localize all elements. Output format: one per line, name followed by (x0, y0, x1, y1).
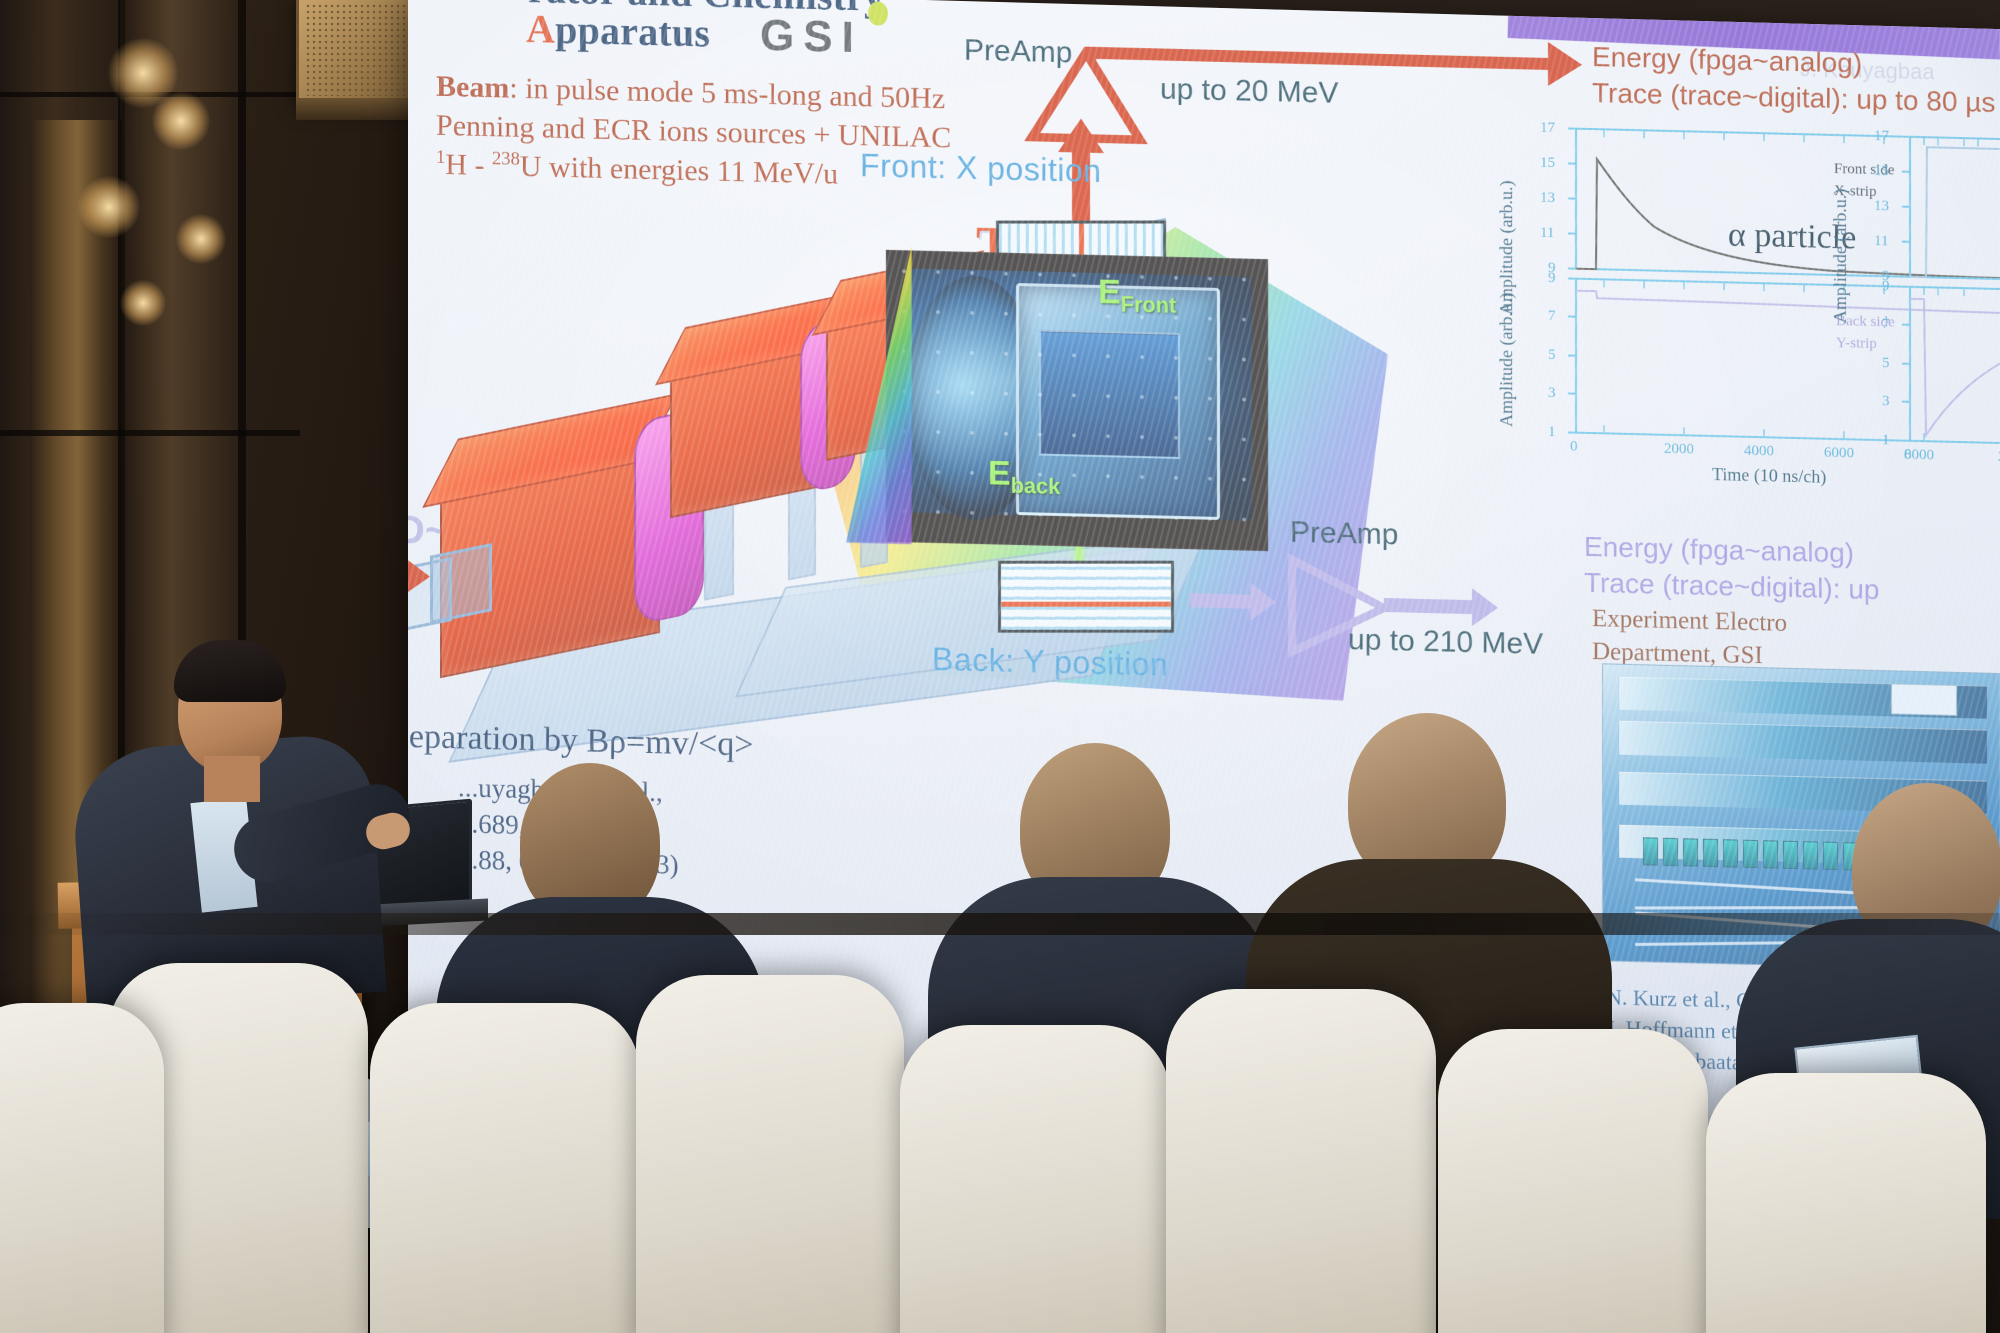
ref-left-2: ...689, 40 (2012) (458, 805, 678, 847)
back-y-position-label: Back: Y position (932, 641, 1168, 684)
electronics-caption-1: Experiment Electro (1592, 603, 1787, 640)
e-front-label: EFront (1098, 273, 1176, 319)
chain-bottom-output: Energy (fpga~analog) Trace (trace~digita… (1584, 529, 1879, 608)
beam-arrow-head (408, 550, 430, 603)
electronics-caption: Experiment Electro Department, GSI (1592, 603, 1787, 673)
arrow-back-shaft (1190, 593, 1256, 609)
electronics-rack-photo (1602, 663, 2000, 971)
slide-title-line2: Apparatus (526, 5, 710, 56)
ceiling-lamp (152, 92, 210, 150)
beam-label: Beam (436, 70, 509, 105)
wall-seam-h (0, 430, 300, 436)
ceiling-lamp (120, 280, 166, 326)
wall-speaker (296, 0, 420, 105)
screenshot-root: rator and Chemistry Apparatus GSI J. Khu… (0, 0, 2000, 1333)
ceiling-lamp (78, 176, 140, 238)
arrow-top-head (1548, 42, 1582, 87)
arrow-top-shaft (1086, 47, 1556, 70)
refs-right-block: N. Kurz et al., GSI Scientific Report 25… (1606, 981, 1993, 1084)
ref-left-1: ...uyagbaatar et al., (458, 769, 678, 811)
plot-fission-svg (1838, 127, 2000, 470)
podium-logo (62, 1168, 140, 1220)
detector-chamber-photo (886, 250, 1268, 551)
gsi-logo: GSI (760, 11, 863, 64)
arrow-back-head (1250, 583, 1276, 622)
e-back-label: Eback (988, 454, 1060, 500)
arrow-bottom-shaft (1384, 598, 1480, 614)
projection-screen: rator and Chemistry Apparatus GSI J. Khu… (408, 0, 2000, 1141)
arrow-bottom-head (1472, 588, 1498, 627)
plot-alpha-xlabel: Time (10 ns/ch) (1712, 464, 1826, 488)
preamp-top-label: PreAmp (964, 34, 1072, 71)
ref-left-3: ...88, 042703 (2013) (458, 842, 678, 884)
ceiling-lamp (176, 214, 226, 264)
arrow-front-head (1058, 118, 1104, 153)
front-x-position-label: Front: X position (860, 147, 1102, 190)
preamp-bottom-label: PreAmp (1290, 516, 1398, 553)
plot-fission: Amplitude (arb.u.) (1838, 127, 2000, 470)
chain-bottom-output-2: Trace (trace~digital): up (1584, 565, 1879, 608)
plot-fission-ylabel: Amplitude (arb.u.) (1830, 188, 1851, 323)
range-bottom-label: up to 210 MeV (1348, 623, 1543, 662)
chain-top-output: Energy (fpga~analog) Trace (trace~digita… (1592, 39, 1995, 121)
range-top-label: up to 20 MeV (1160, 72, 1338, 110)
water-bottle (320, 1078, 376, 1228)
gsi-logo-dot (868, 1, 888, 25)
back-strip-detector (998, 561, 1174, 633)
wall-speaker-base (296, 98, 414, 120)
refs-left-block: ...uyagbaatar et al., ...689, 40 (2012) … (458, 769, 678, 883)
presenter-neck (204, 756, 260, 802)
plot-alphaback-ylabel: Amplitude (arb.u.) (1496, 292, 1517, 427)
beamline-element-2 (430, 543, 492, 624)
